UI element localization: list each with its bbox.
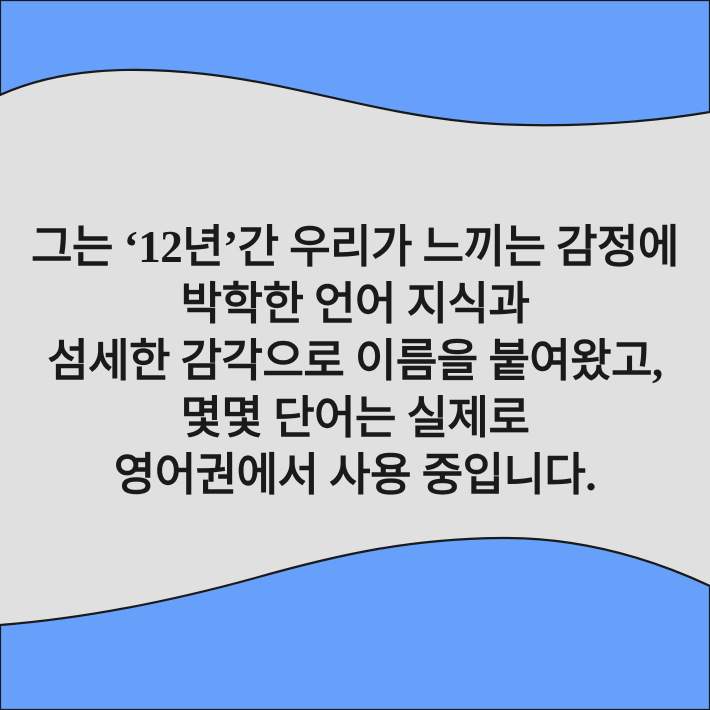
wave-background <box>0 0 710 710</box>
quote-card: 그는 ‘12년’간 우리가 느끼는 감정에 박학한 언어 지식과 섬세한 감각으… <box>0 0 710 710</box>
